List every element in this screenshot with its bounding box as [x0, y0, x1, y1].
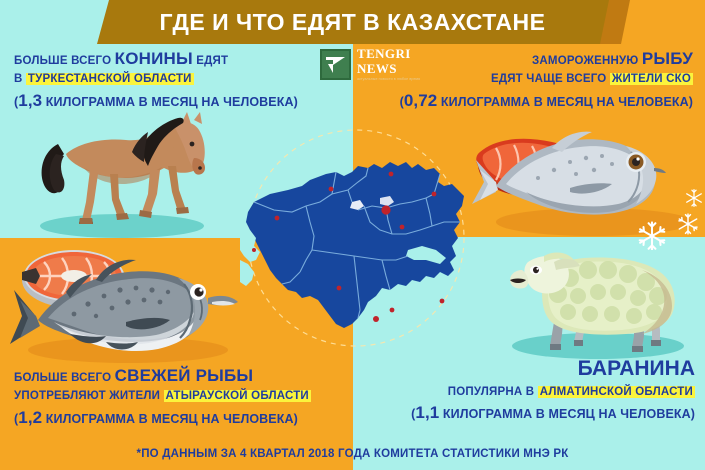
- fresh-fish-illustration: [8, 242, 242, 366]
- horsemeat-value: 1,3: [18, 91, 42, 110]
- horsemeat-line-2: В ТУРКЕСТАНСКОЙ ОБЛАСТИ: [14, 72, 298, 87]
- frozenfish-region: ЖИТЕЛИ СКО: [610, 73, 693, 85]
- freshfish-line-2: УПОТРЕБЛЯЮТ ЖИТЕЛИ АТЫРАУСКОЙ ОБЛАСТИ: [14, 389, 311, 404]
- horsemeat-line2-prefix: В: [14, 73, 23, 85]
- footnote: *ПО ДАННЫМ ЗА 4 КВАРТАЛ 2018 ГОДА КОМИТЕ…: [0, 437, 705, 470]
- title-banner: ГДЕ И ЧТО ЕДЯТ В КАЗАХСТАНЕ: [0, 0, 705, 44]
- horsemeat-verb: ЕДЯТ: [196, 55, 228, 67]
- freshfish-region: АТЫРАУСКОЙ ОБЛАСТИ: [164, 390, 311, 402]
- stat-block-horsemeat: БОЛЬШЕ ВСЕГО КОНИНЫ ЕДЯТ В ТУРКЕСТАНСКОЙ…: [14, 48, 298, 112]
- horsemeat-unit: КИЛОГРАММА В МЕСЯЦ НА ЧЕЛОВЕКА: [46, 95, 294, 109]
- freshfish-line-3: (1,2 КИЛОГРАММА В МЕСЯЦ НА ЧЕЛОВЕКА): [14, 407, 311, 429]
- mutton-line-2: ПОПУЛЯРНА В АЛМАТИНСКОЙ ОБЛАСТИ: [411, 385, 695, 400]
- frozenfish-verb: ЕДЯТ ЧАЩЕ ВСЕГО: [491, 73, 606, 85]
- horsemeat-paren-close: ): [294, 95, 298, 109]
- tengrinews-arrow-mark-icon: [320, 49, 351, 80]
- frozenfish-unit: КИЛОГРАММА В МЕСЯЦ НА ЧЕЛОВЕКА: [441, 95, 689, 109]
- freshfish-verb: УПОТРЕБЛЯЮТ ЖИТЕЛИ: [14, 390, 160, 402]
- mutton-unit: КИЛОГРАММА В МЕСЯЦ НА ЧЕЛОВЕКА: [443, 407, 691, 421]
- horsemeat-line-1: БОЛЬШЕ ВСЕГО КОНИНЫ ЕДЯТ: [14, 48, 298, 70]
- freshfish-unit: КИЛОГРАММА В МЕСЯЦ НА ЧЕЛОВЕКА: [46, 412, 294, 426]
- horsemeat-region: ТУРКЕСТАНСКОЙ ОБЛАСТИ: [26, 73, 194, 85]
- frozenfish-line-3: (0,72 КИЛОГРАММА В МЕСЯЦ НА ЧЕЛОВЕКА): [400, 90, 693, 112]
- freshfish-value: 1,2: [18, 408, 42, 427]
- freshfish-product: СВЕЖЕЙ РЫБЫ: [115, 366, 254, 385]
- stat-block-frozen-fish: ЗАМОРОЖЕННУЮ РЫБУ ЕДЯТ ЧАЩЕ ВСЕГО ЖИТЕЛИ…: [400, 48, 693, 112]
- frozenfish-line-1: ЗАМОРОЖЕННУЮ РЫБУ: [400, 48, 693, 70]
- mutton-line-3: (1,1 КИЛОГРАММА В МЕСЯЦ НА ЧЕЛОВЕКА): [411, 402, 695, 424]
- horse-illustration: [22, 108, 222, 240]
- frozenfish-line-2: ЕДЯТ ЧАЩЕ ВСЕГО ЖИТЕЛИ СКО: [400, 72, 693, 87]
- page-title: ГДЕ И ЧТО ЕДЯТ В КАЗАХСТАНЕ: [0, 0, 705, 44]
- freshfish-paren-close: ): [294, 412, 298, 426]
- sheep-illustration: [492, 248, 704, 366]
- frozenfish-product: РЫБУ: [642, 49, 693, 68]
- mutton-region: АЛМАТИНСКОЙ ОБЛАСТИ: [538, 386, 695, 398]
- stat-block-fresh-fish: БОЛЬШЕ ВСЕГО СВЕЖЕЙ РЫБЫ УПОТРЕБЛЯЮТ ЖИТ…: [14, 365, 311, 429]
- mutton-verb: ПОПУЛЯРНА В: [448, 386, 535, 398]
- mutton-value: 1,1: [415, 403, 439, 422]
- frozenfish-paren-close: ): [689, 95, 693, 109]
- frozen-fish-illustration: [466, 118, 704, 250]
- horsemeat-product: КОНИНЫ: [115, 49, 193, 68]
- freshfish-line-1: БОЛЬШЕ ВСЕГО СВЕЖЕЙ РЫБЫ: [14, 365, 311, 387]
- kazakhstan-map: [240, 110, 472, 350]
- horsemeat-lead: БОЛЬШЕ ВСЕГО: [14, 55, 111, 67]
- frozenfish-lead: ЗАМОРОЖЕННУЮ: [532, 55, 638, 67]
- infographic-canvas: ГДЕ И ЧТО ЕДЯТ В КАЗАХСТАНЕ TENGRI NEWS …: [0, 0, 705, 470]
- frozenfish-value: 0,72: [404, 91, 438, 110]
- mutton-paren-close: ): [691, 407, 695, 421]
- freshfish-lead: БОЛЬШЕ ВСЕГО: [14, 372, 111, 384]
